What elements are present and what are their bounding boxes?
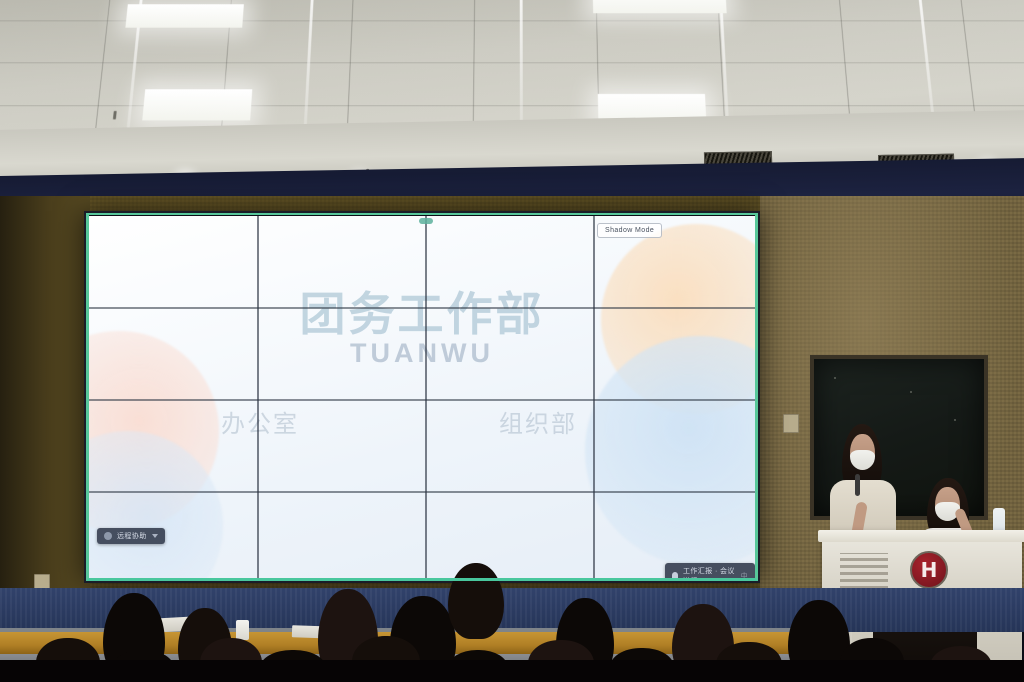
ceiling-panel-light [142, 89, 252, 120]
bezel-seam-horizontal [89, 307, 755, 309]
desk-cup [236, 620, 249, 640]
video-wall-screen[interactable]: 团务工作部 TUANWU 办公室 组织部 Shadow Mode 远程协助 [89, 216, 755, 578]
screen-chip-bottom-right[interactable]: 工作汇报 · 会议进行 中 [665, 563, 755, 578]
bezel-seam-horizontal [89, 491, 755, 493]
slide-title: 团务工作部 [89, 278, 755, 344]
screen-chip-shadow-mode[interactable]: Shadow Mode [597, 223, 662, 238]
left-wall-panel [0, 196, 90, 616]
wall-outlet [783, 414, 799, 433]
foreground-shadow [0, 660, 1024, 682]
decor-blob-blue-right [585, 336, 755, 566]
institution-emblem: H [910, 551, 948, 589]
bottom-right-chip-label: 工作汇报 · 会议进行 [683, 566, 736, 578]
remote-assist-icon [104, 532, 112, 540]
chevron-down-icon[interactable] [152, 534, 158, 538]
slide-label-organization: 组织部 [499, 404, 577, 439]
audience-head [448, 563, 504, 639]
bottom-right-chip-tail: 中 [741, 571, 748, 578]
slide-label-office: 办公室 [221, 404, 299, 439]
microphone-icon [855, 474, 860, 496]
bezel-seam-vertical [257, 216, 259, 578]
ceiling-panel-light [593, 0, 727, 13]
lecture-hall-scene: H 团务工作部 TUANWU 办公室 组织部 [0, 0, 1024, 682]
video-wall-display[interactable]: 团务工作部 TUANWU 办公室 组织部 Shadow Mode 远程协助 [84, 211, 760, 583]
ceiling-panel-light [125, 4, 243, 27]
bezel-seam-vertical [425, 216, 427, 578]
slide-subtitle: TUANWU [89, 338, 755, 369]
emblem-mark: H [921, 560, 938, 580]
bezel-seam-horizontal [89, 399, 755, 401]
bottom-left-chip-label: 远程协助 [117, 531, 147, 541]
screen-chip-bottom-left[interactable]: 远程协助 [97, 528, 165, 544]
microphone-status-icon [672, 572, 678, 579]
podium-top-edge [818, 530, 1024, 542]
podium-grille [840, 553, 888, 589]
shadow-mode-label: Shadow Mode [605, 227, 654, 234]
screen-chip-top-center[interactable] [419, 218, 433, 224]
bezel-seam-vertical [593, 216, 595, 578]
